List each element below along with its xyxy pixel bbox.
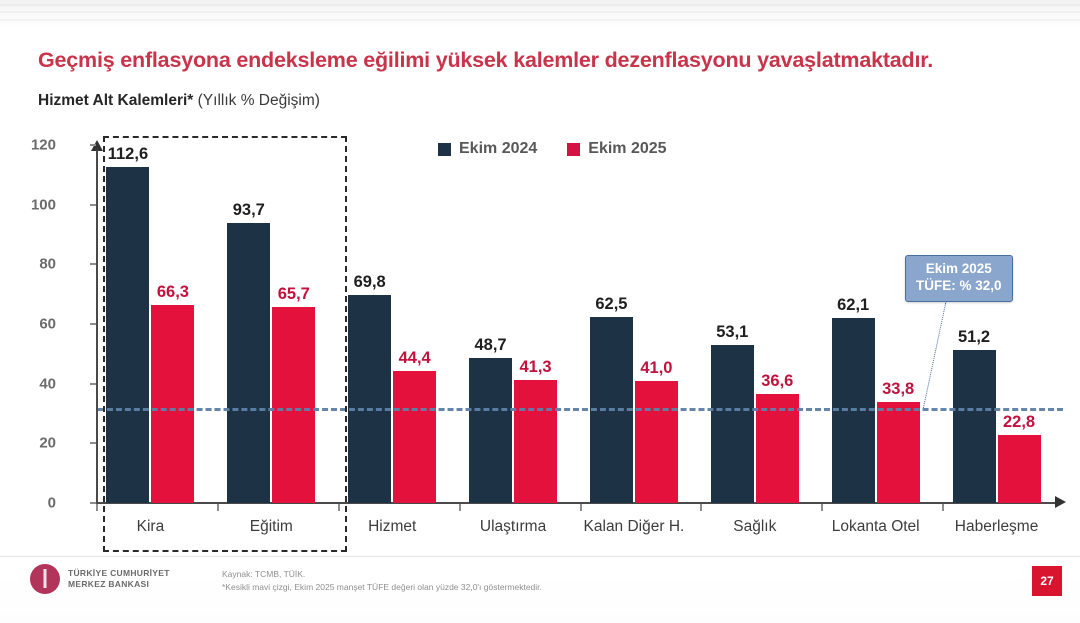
bar[interactable] [877, 402, 920, 503]
x-axis-tick-mark [459, 504, 461, 511]
tcmb-logo: TÜRKİYE CUMHURİYET MERKEZ BANKASI [30, 564, 170, 594]
x-axis-tick-mark [217, 504, 219, 511]
x-axis-category-label: Hizmet [368, 518, 416, 536]
x-axis-category-label: Kira [137, 518, 165, 536]
bar-group: 93,765,7 [227, 145, 315, 503]
bar[interactable] [514, 380, 557, 503]
bar-value-label: 41,3 [520, 358, 552, 377]
x-axis-category-label: Sağlık [733, 518, 776, 536]
chart-subtitle-bold: Hizmet Alt Kalemleri* [38, 92, 193, 109]
bar[interactable] [953, 350, 996, 503]
bar-value-label: 36,6 [761, 372, 793, 391]
source-line-1: Kaynak: TCMB, TÜİK. [222, 568, 542, 581]
chart-subtitle: Hizmet Alt Kalemleri* (Yıllık % Değişim) [38, 92, 320, 110]
logo-line-1: TÜRKİYE CUMHURİYET [68, 568, 170, 578]
bar[interactable] [348, 295, 391, 503]
bar[interactable] [635, 381, 678, 503]
tcmb-logo-text: TÜRKİYE CUMHURİYET MERKEZ BANKASI [68, 568, 170, 591]
bar[interactable] [469, 358, 512, 503]
x-axis-category-label: Ulaştırma [480, 518, 546, 536]
y-axis-tick-label: 100 [12, 196, 56, 213]
scan-band [0, 11, 1080, 13]
x-axis-category-label: Lokanta Otel [832, 518, 920, 536]
bar[interactable] [272, 307, 315, 503]
bar-value-label: 66,3 [157, 283, 189, 302]
y-axis-tick-label: 0 [12, 495, 56, 512]
x-axis-category-label: Kalan Diğer H. [584, 518, 685, 536]
x-axis-tick-mark [942, 504, 944, 511]
bar-value-label: 48,7 [475, 336, 507, 355]
slide-canvas: Geçmiş enflasyona endeksleme eğilimi yük… [0, 0, 1080, 623]
bar-group: 62,133,8 [832, 145, 920, 503]
bar-value-label: 65,7 [278, 285, 310, 304]
source-line-2: *Kesikli mavi çizgi, Ekim 2025 manşet TÜ… [222, 581, 542, 594]
scan-band [0, 4, 1080, 6]
bar-group: 51,222,8 [953, 145, 1041, 503]
slide-title: Geçmiş enflasyona endeksleme eğilimi yük… [38, 48, 1058, 73]
bar[interactable] [998, 435, 1041, 503]
bar-group: 48,741,3 [469, 145, 557, 503]
bar[interactable] [393, 371, 436, 503]
tcmb-emblem-icon [30, 564, 60, 594]
chart-subtitle-unit: (Yıllık % Değişim) [193, 92, 320, 109]
bar-group: 53,136,6 [711, 145, 799, 503]
x-axis-tick-mark [96, 504, 98, 511]
bar-group: 62,541,0 [590, 145, 678, 503]
bar-value-label: 93,7 [233, 201, 265, 220]
x-axis-tick-mark [821, 504, 823, 511]
logo-line-2: MERKEZ BANKASI [68, 579, 149, 589]
bar-value-label: 62,5 [595, 295, 627, 314]
chart-area: Ekim 2024 Ekim 2025 020406080100120 112,… [18, 128, 1066, 546]
plot-bars: 112,666,393,765,769,844,448,741,362,541,… [96, 145, 1063, 503]
bar-value-label: 33,8 [882, 380, 914, 399]
scan-band [0, 19, 1080, 21]
x-axis-category-label: Eğitim [250, 518, 293, 536]
x-axis-tick-mark [700, 504, 702, 511]
bar[interactable] [106, 167, 149, 503]
cpi-callout: Ekim 2025 TÜFE: % 32,0 [905, 255, 1013, 302]
bar[interactable] [151, 305, 194, 503]
bar-group: 112,666,3 [106, 145, 194, 503]
bar-value-label: 44,4 [399, 349, 431, 368]
page-number-badge: 27 [1032, 566, 1062, 596]
y-axis-tick-label: 60 [12, 316, 56, 333]
y-axis-tick-label: 120 [12, 137, 56, 154]
y-axis-tick-label: 80 [12, 256, 56, 273]
source-note: Kaynak: TCMB, TÜİK. *Kesikli mavi çizgi,… [222, 568, 542, 594]
bar-value-label: 112,6 [108, 145, 148, 164]
bar-value-label: 62,1 [837, 296, 869, 315]
bar-value-label: 51,2 [958, 328, 990, 347]
callout-line-1: Ekim 2025 [916, 261, 1002, 278]
x-axis-tick-mark [580, 504, 582, 511]
bar-value-label: 53,1 [716, 323, 748, 342]
callout-line-2: TÜFE: % 32,0 [916, 278, 1002, 295]
bar[interactable] [227, 223, 270, 503]
bar-group: 69,844,4 [348, 145, 436, 503]
footer-divider [0, 556, 1080, 557]
bar-value-label: 41,0 [640, 359, 672, 378]
bar-value-label: 22,8 [1003, 413, 1035, 432]
y-axis-tick-label: 40 [12, 375, 56, 392]
y-axis-tick-label: 20 [12, 435, 56, 452]
x-axis-category-label: Haberleşme [955, 518, 1039, 536]
bar[interactable] [711, 345, 754, 503]
reference-line [98, 408, 1063, 411]
bar-value-label: 69,8 [354, 273, 386, 292]
x-axis-tick-mark [338, 504, 340, 511]
